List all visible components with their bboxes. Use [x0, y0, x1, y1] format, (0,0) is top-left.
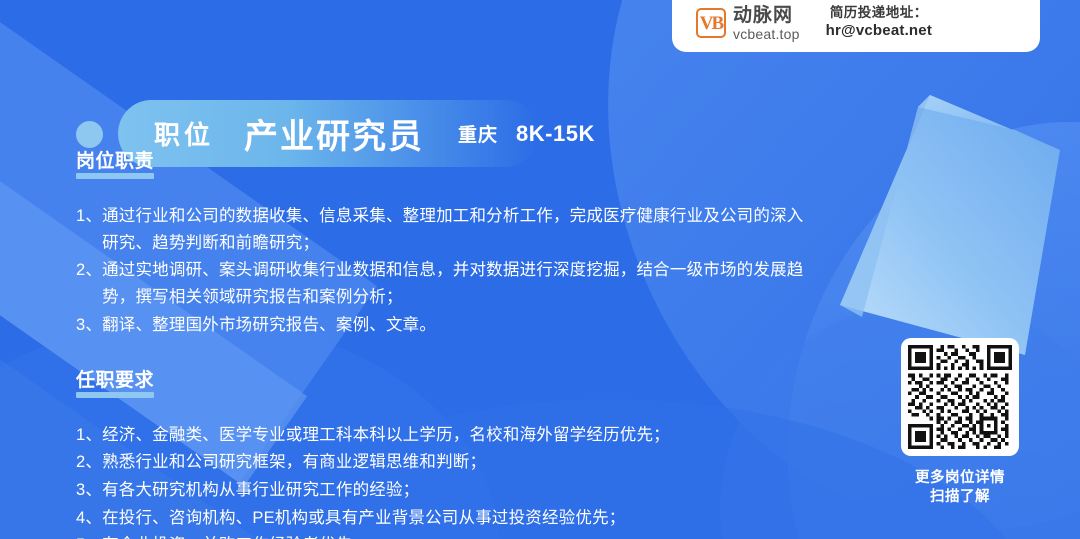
brand-logo: VB 动脉网 vcbeat.top [696, 6, 800, 41]
list-item-number: 4、 [76, 505, 102, 532]
section-underline [76, 173, 154, 179]
poster-canvas: VB 动脉网 vcbeat.top 简历投递地址： hr@vcbeat.net … [0, 0, 1080, 539]
section-requirements: 任职要求 1、 经济、金融类、医学专业或理工科本科以上学历，名校和海外留学经历优… [76, 365, 816, 539]
job-header: 职位 产业研究员 重庆 8K-15K [0, 48, 1080, 122]
list-item-text: 经济、金融类、医学专业或理工科本科以上学历，名校和海外留学经历优先； [102, 422, 816, 449]
list-item: 1、 经济、金融类、医学专业或理工科本科以上学历，名校和海外留学经历优先； [76, 422, 816, 449]
section-responsibilities: 岗位职责 1、 通过行业和公司的数据收集、信息采集、整理加工和分析工作，完成医疗… [76, 146, 816, 339]
brand-name-en: vcbeat.top [733, 27, 800, 41]
list-item-number: 1、 [76, 203, 102, 230]
list-item: 5、 有企业投资、并购工作经验者优先； [76, 532, 816, 539]
list-item-text: 在投行、咨询机构、PE机构或具有产业背景公司从事过投资经验优先； [102, 505, 816, 532]
list-item-number: 3、 [76, 477, 102, 504]
list-item-text: 通过实地调研、案头调研收集行业数据和信息，并对数据进行深度挖掘，结合一级市场的发… [102, 257, 816, 310]
section-heading-label: 岗位职责 [76, 151, 154, 172]
apply-email[interactable]: hr@vcbeat.net [826, 22, 932, 41]
list-item: 2、 熟悉行业和公司研究框架，有商业逻辑思维和判断； [76, 449, 816, 476]
list-item-text: 有企业投资、并购工作经验者优先； [102, 532, 816, 539]
list-item-text: 翻译、整理国外市场研究报告、案例、文章。 [102, 312, 816, 339]
vb-logo-icon: VB [696, 8, 726, 38]
brand-card: VB 动脉网 vcbeat.top 简历投递地址： hr@vcbeat.net [672, 0, 1040, 52]
qr-block: 更多岗位详情 扫描了解 [900, 338, 1020, 507]
section-underline [76, 392, 154, 398]
list-item: 3、 翻译、整理国外市场研究报告、案例、文章。 [76, 312, 816, 339]
section-heading: 任职要求 [76, 365, 154, 392]
list-item-number: 3、 [76, 312, 102, 339]
qr-caption-line1: 更多岗位详情 [915, 469, 1005, 488]
header-dot-icon [76, 121, 103, 148]
list-item-number: 5、 [76, 532, 102, 539]
job-salary: 8K-15K [516, 121, 595, 147]
list-item: 4、 在投行、咨询机构、PE机构或具有产业背景公司从事过投资经验优先； [76, 505, 816, 532]
list-item: 3、 有各大研究机构从事行业研究工作的经验； [76, 477, 816, 504]
brand-name-cn: 动脉网 [733, 6, 800, 25]
responsibility-list: 1、 通过行业和公司的数据收集、信息采集、整理加工和分析工作，完成医疗健康行业及… [76, 203, 816, 339]
requirement-list: 1、 经济、金融类、医学专业或理工科本科以上学历，名校和海外留学经历优先； 2、… [76, 422, 816, 539]
list-item: 1、 通过行业和公司的数据收集、信息采集、整理加工和分析工作，完成医疗健康行业及… [76, 203, 816, 256]
list-item-number: 1、 [76, 422, 102, 449]
job-location: 重庆 [458, 120, 498, 147]
section-heading: 岗位职责 [76, 146, 154, 173]
apply-label: 简历投递地址： [830, 5, 928, 22]
apply-info: 简历投递地址： hr@vcbeat.net [826, 5, 932, 41]
list-item-number: 2、 [76, 257, 102, 284]
list-item-text: 通过行业和公司的数据收集、信息采集、整理加工和分析工作，完成医疗健康行业及公司的… [102, 203, 816, 256]
list-item-number: 2、 [76, 449, 102, 476]
list-item-text: 有各大研究机构从事行业研究工作的经验； [102, 477, 816, 504]
section-heading-label: 任职要求 [76, 370, 154, 391]
qr-code-icon[interactable] [901, 338, 1019, 456]
qr-caption-line2: 扫描了解 [915, 488, 1005, 507]
qr-caption: 更多岗位详情 扫描了解 [915, 469, 1005, 507]
job-description: 岗位职责 1、 通过行业和公司的数据收集、信息采集、整理加工和分析工作，完成医疗… [76, 146, 816, 539]
list-item: 2、 通过实地调研、案头调研收集行业数据和信息，并对数据进行深度挖掘，结合一级市… [76, 257, 816, 310]
list-item-text: 熟悉行业和公司研究框架，有商业逻辑思维和判断； [102, 449, 816, 476]
